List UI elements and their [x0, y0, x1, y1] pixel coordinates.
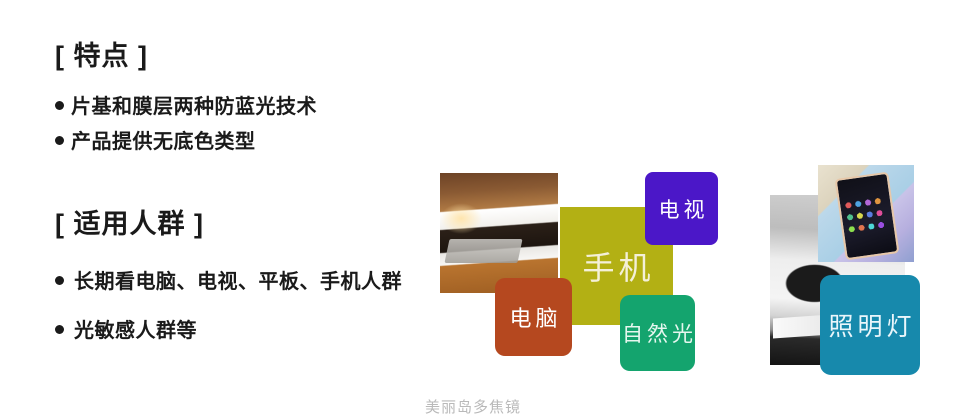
bullet-dot-icon	[55, 276, 64, 285]
features-bullet-2: 产品提供无底色类型	[71, 125, 256, 154]
features-bullet-list: 片基和膜层两种防蓝光技术 产品提供无底色类型	[55, 90, 455, 154]
features-bullet-1: 片基和膜层两种防蓝光技术	[71, 90, 317, 119]
audience-heading: [ 适用人群 ]	[55, 210, 455, 240]
list-item: 产品提供无底色类型	[55, 125, 455, 154]
audience-bullet-list: 长期看电脑、电视、平板、手机人群 光敏感人群等	[55, 265, 455, 343]
bullet-dot-icon	[55, 136, 64, 145]
smartphone-photo	[818, 165, 914, 262]
tile-computer: 电脑	[495, 278, 572, 356]
tile-lighting-lamp: 照明灯	[820, 275, 920, 375]
bullet-dot-icon	[55, 101, 64, 110]
features-heading: [ 特点 ]	[55, 42, 455, 72]
audience-block: [ 适用人群 ] 长期看电脑、电视、平板、手机人群 光敏感人群等	[55, 210, 455, 344]
list-item: 长期看电脑、电视、平板、手机人群	[55, 265, 455, 294]
laptop-on-desk-photo	[440, 173, 558, 293]
list-item: 片基和膜层两种防蓝光技术	[55, 90, 455, 119]
slide-canvas: [ 特点 ] 片基和膜层两种防蓝光技术 产品提供无底色类型 [ 适用人群 ] 长…	[0, 0, 980, 420]
list-item: 光敏感人群等	[55, 314, 455, 343]
image-collage: 手机 电脑 电视 自然光 照明灯	[430, 160, 980, 410]
watermark-text: 美丽岛多焦镜	[425, 396, 521, 417]
bullet-dot-icon	[55, 325, 64, 334]
text-column: [ 特点 ] 片基和膜层两种防蓝光技术 产品提供无底色类型 [ 适用人群 ] 长…	[55, 42, 455, 363]
features-block: [ 特点 ] 片基和膜层两种防蓝光技术 产品提供无底色类型	[55, 42, 455, 154]
tile-natural-light: 自然光	[620, 295, 695, 371]
audience-bullet-2: 光敏感人群等	[74, 314, 197, 343]
audience-bullet-1: 长期看电脑、电视、平板、手机人群	[74, 265, 402, 294]
tile-television: 电视	[645, 172, 718, 245]
